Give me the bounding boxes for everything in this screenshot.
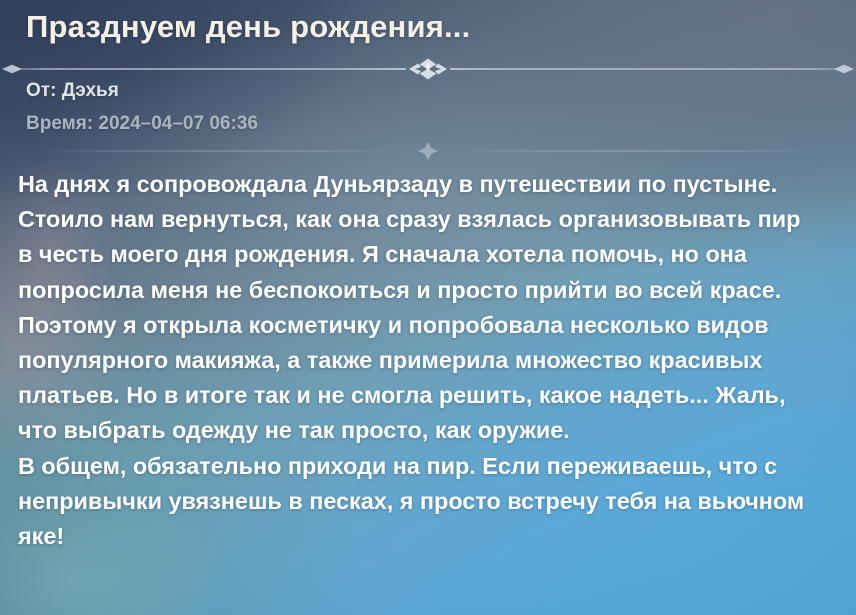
mail-content: Празднуем день рождения... [0, 0, 856, 615]
ornate-diamond-divider-icon [0, 58, 856, 80]
mail-body-text: На днях я сопровождала Дуньярзаду в путе… [18, 167, 806, 554]
four-point-star-divider-icon [0, 140, 856, 162]
mail-letter-panel: Празднуем день рождения... [0, 0, 856, 615]
mail-title: Празднуем день рождения... [26, 9, 470, 45]
mail-timestamp: Время: 2024–04–07 06:36 [26, 113, 258, 135]
mail-sender: От: Дэхья [26, 80, 119, 102]
